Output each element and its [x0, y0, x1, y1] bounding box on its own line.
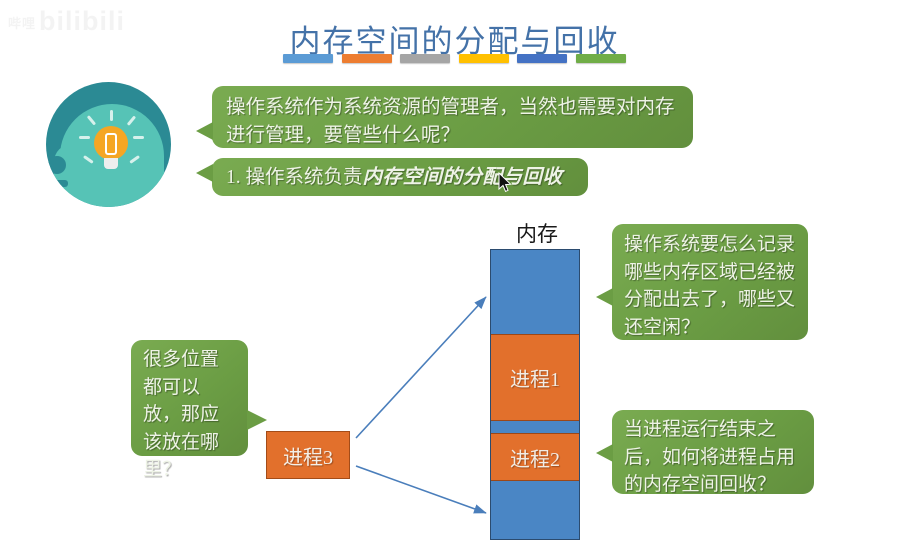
mouse-pointer-icon: [498, 172, 512, 193]
memory-label: 内存: [493, 218, 581, 248]
callout-where-to-place: 很多位置都可以放，那应该放在哪里？: [131, 340, 248, 456]
rule-bar-6: [576, 54, 626, 63]
callout-point-1-tail: [196, 164, 213, 182]
callout-record-allocation: 操作系统要怎么记录哪些内存区域已经被分配出去了，哪些又还空闲？: [612, 224, 808, 340]
head-profile-front: [54, 144, 82, 207]
callout-reclaim-memory-tail: [596, 444, 613, 462]
rule-bar-3: [400, 54, 450, 63]
memory-segment-free-top: [491, 250, 579, 334]
memory-segment-free-bottom: [491, 481, 579, 538]
rule-bar-2: [342, 54, 392, 63]
arrow-to-free-top: [356, 297, 486, 438]
memory-segment-free-middle: [491, 421, 579, 433]
bulb-ray-5: [133, 136, 144, 139]
lightbulb-icon: [94, 126, 128, 160]
memory-segment-process2: 进程2: [491, 433, 579, 481]
callout-where-to-place-tail: [247, 410, 267, 430]
lightbulb-base: [104, 158, 118, 169]
memory-segment-process1: 进程1: [491, 334, 579, 421]
memory-segment-process2-label: 进程2: [510, 443, 560, 472]
callout-point-1-prefix: 1. 操作系统负责: [226, 167, 363, 188]
arrow-to-free-bottom: [356, 466, 486, 513]
callout-reclaim-memory-text: 当进程运行结束之后，如何将进程占用的内存空间回收？: [624, 419, 795, 495]
rule-bar-4: [459, 54, 509, 63]
callout-record-allocation-tail: [596, 288, 613, 306]
callout-point-1-emphasis: 内存空间的分配与回收: [363, 167, 563, 188]
bulb-ray-1: [110, 110, 113, 121]
process3-box: 进程3: [266, 431, 350, 479]
callout-point-1: 1. 操作系统负责内存空间的分配与回收: [212, 158, 588, 196]
head-mouth: [52, 180, 68, 187]
callout-where-to-place-text: 很多位置都可以放，那应该放在哪里？: [143, 349, 219, 480]
process3-label: 进程3: [283, 441, 333, 470]
callout-record-allocation-text: 操作系统要怎么记录哪些内存区域已经被分配出去了，哪些又还空闲？: [624, 234, 795, 338]
callout-intro-tail: [196, 122, 213, 140]
callout-reclaim-memory: 当进程运行结束之后，如何将进程占用的内存空间回收？: [612, 410, 814, 494]
memory-segment-process1-label: 进程1: [510, 363, 560, 392]
head-nose: [48, 156, 66, 174]
rule-bar-1: [283, 54, 333, 63]
rule-bar-5: [517, 54, 567, 63]
head-lightbulb-icon: [46, 82, 171, 207]
callout-intro: 操作系统作为系统资源的管理者，当然也需要对内存进行管理，要管些什么呢？: [212, 86, 693, 148]
title-rule: [283, 54, 626, 63]
memory-bar: 进程1 进程2: [490, 249, 580, 540]
slide-canvas: 哔哩bilibili 内存空间的分配与回收 操作系统作为系统资源的管理者，当然也…: [0, 0, 909, 552]
callout-intro-text: 操作系统作为系统资源的管理者，当然也需要对内存进行管理，要管些什么呢？: [226, 97, 675, 146]
bulb-ray-4: [79, 136, 90, 139]
